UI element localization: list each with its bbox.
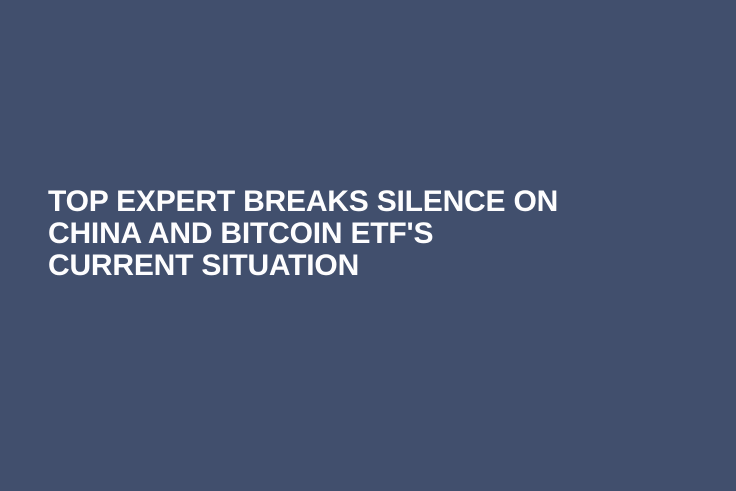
headline-line-3: CURRENT SITUATION bbox=[48, 250, 668, 282]
headline-line-2: CHINA AND BITCOIN ETF'S bbox=[48, 218, 668, 250]
headline: TOP EXPERT BREAKS SILENCE ON CHINA AND B… bbox=[48, 186, 668, 282]
headline-line-1: TOP EXPERT BREAKS SILENCE ON bbox=[48, 186, 668, 218]
article-cover-card: TOP EXPERT BREAKS SILENCE ON CHINA AND B… bbox=[0, 0, 736, 491]
